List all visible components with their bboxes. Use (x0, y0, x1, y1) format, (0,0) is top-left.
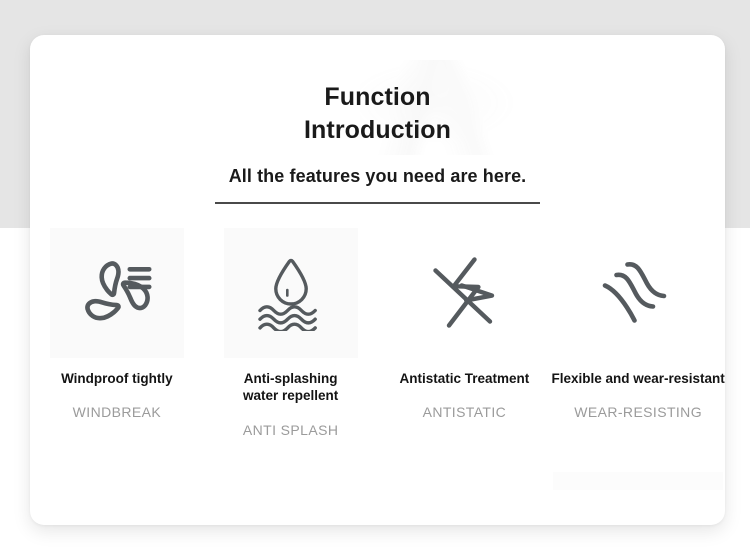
card-header: FunctionIntroduction All the features yo… (30, 35, 725, 204)
page-title-line1: Function (324, 83, 430, 111)
water-droplet-waves-icon (251, 255, 331, 331)
feature-card: FunctionIntroduction All the features yo… (30, 35, 725, 525)
feature-label: Windproof tightly (30, 358, 204, 387)
page-root: FunctionIntroduction All the features yo… (0, 0, 750, 559)
flowing-curves-icon (598, 255, 678, 331)
feature-icon-tile (224, 228, 358, 358)
page-title-line2: Introduction (30, 114, 725, 147)
feature-item-anti-splash: Anti-splashing water repellent ANTI SPLA… (204, 228, 378, 438)
fan-propeller-icon (77, 255, 157, 331)
feature-caption: WEAR-RESISTING (551, 387, 725, 420)
feature-label: Flexible and wear-resistant (551, 358, 725, 387)
feature-list: Windproof tightly WINDBREAK (30, 228, 725, 438)
faint-band-artifact (553, 472, 723, 490)
feature-icon-tile (397, 228, 531, 358)
page-title: FunctionIntroduction (30, 35, 725, 148)
feature-caption: ANTI SPLASH (204, 405, 378, 438)
feature-item-wear-resisting: Flexible and wear-resistant WEAR-RESISTI… (551, 228, 725, 420)
feature-label: Anti-splashing water repellent (204, 358, 378, 405)
subtitle-divider (215, 202, 540, 204)
page-subtitle: All the features you need are here. (30, 148, 725, 187)
feature-icon-tile (571, 228, 705, 358)
feature-item-windbreak: Windproof tightly WINDBREAK (30, 228, 204, 420)
feature-caption: WINDBREAK (30, 387, 204, 420)
feature-caption: ANTISTATIC (378, 387, 552, 420)
feature-item-antistatic: Antistatic Treatment ANTISTATIC (378, 228, 552, 420)
lightning-bolt-slashed-icon (424, 255, 504, 331)
feature-label: Antistatic Treatment (378, 358, 552, 387)
feature-icon-tile (50, 228, 184, 358)
